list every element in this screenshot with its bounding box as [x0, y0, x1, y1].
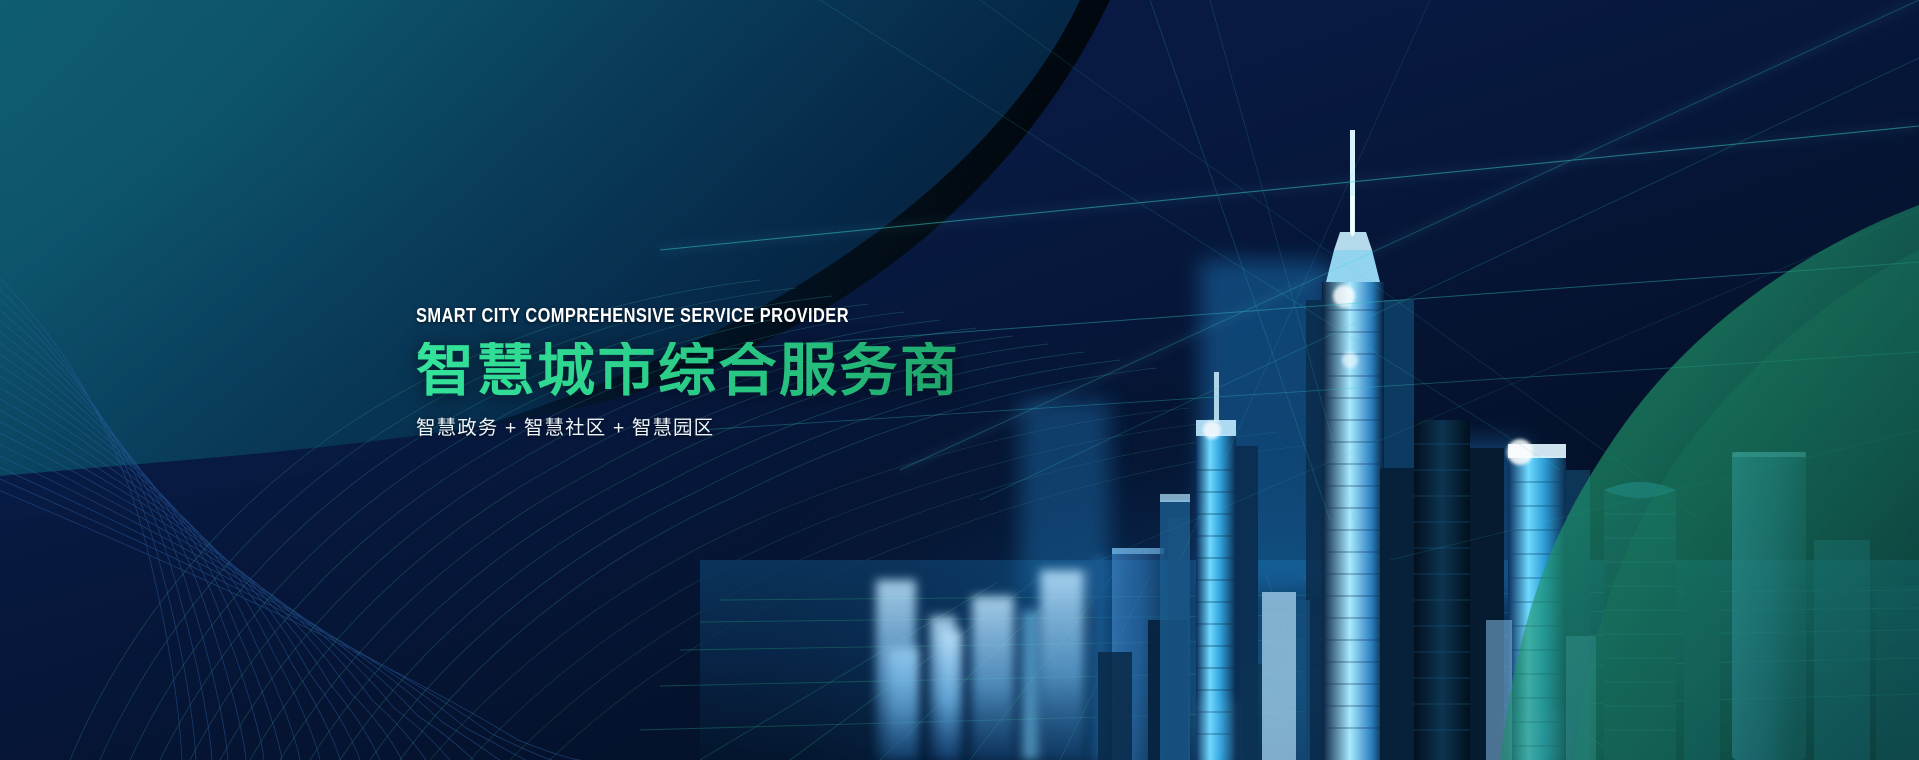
smart-city-banner: SMART CITY COMPREHENSIVE SERVICE PROVIDE… — [0, 0, 1919, 760]
page-title: 智慧城市综合服务商 — [416, 342, 1116, 400]
headline-text-block: SMART CITY COMPREHENSIVE SERVICE PROVIDE… — [416, 306, 1116, 438]
subtitle-services: 智慧政务 + 智慧社区 + 智慧园区 — [416, 419, 1116, 439]
eyebrow-tagline: SMART CITY COMPREHENSIVE SERVICE PROVIDE… — [416, 306, 976, 327]
